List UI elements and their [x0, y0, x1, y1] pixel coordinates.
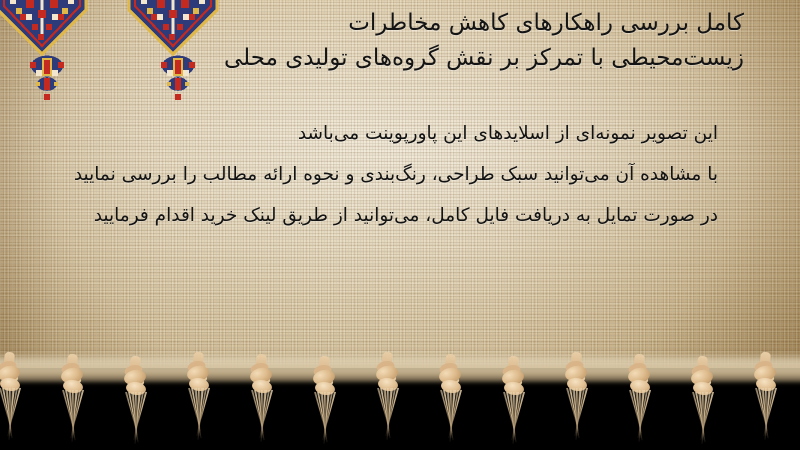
- fringe-tassel: [620, 354, 660, 450]
- slide-title: کامل بررسی راهکارهای کاهش مخاطرات زیست‌م…: [104, 6, 744, 76]
- slide-title-line-2: زیست‌محیطی با تمرکز بر نقش گروه‌های تولی…: [104, 41, 744, 76]
- fringe-tassel: [368, 352, 408, 448]
- carpet-fringe-tassels: [0, 352, 800, 450]
- fringe-tassel: [53, 354, 93, 450]
- slide-body-line-3: در صورت تمایل به دریافت فایل کامل، می‌تو…: [58, 195, 718, 236]
- fringe-tassel: [242, 354, 282, 450]
- fringe-tassel: [431, 354, 471, 450]
- slide-canvas: کامل بررسی راهکارهای کاهش مخاطرات زیست‌م…: [0, 0, 800, 450]
- medallion-pendant-drop-left: [24, 54, 70, 106]
- fringe-tassel: [746, 352, 786, 448]
- slide-title-line-1: کامل بررسی راهکارهای کاهش مخاطرات: [104, 6, 744, 41]
- fringe-tassel: [116, 356, 156, 450]
- fringe-tassel: [0, 352, 30, 448]
- fringe-tassel: [305, 356, 345, 450]
- fringe-tassel: [557, 352, 597, 448]
- slide-body: این تصویر نمونه‌ای از اسلایدهای این پاور…: [58, 113, 718, 236]
- fringe-tassel: [179, 352, 219, 448]
- slide-body-line-2: با مشاهده آن می‌توانید سبک طراحی، رنگ‌بن…: [58, 154, 718, 195]
- slide-body-line-1: این تصویر نمونه‌ای از اسلایدهای این پاور…: [58, 113, 718, 154]
- fringe-tassel: [494, 356, 534, 450]
- fringe-tassel: [683, 356, 723, 450]
